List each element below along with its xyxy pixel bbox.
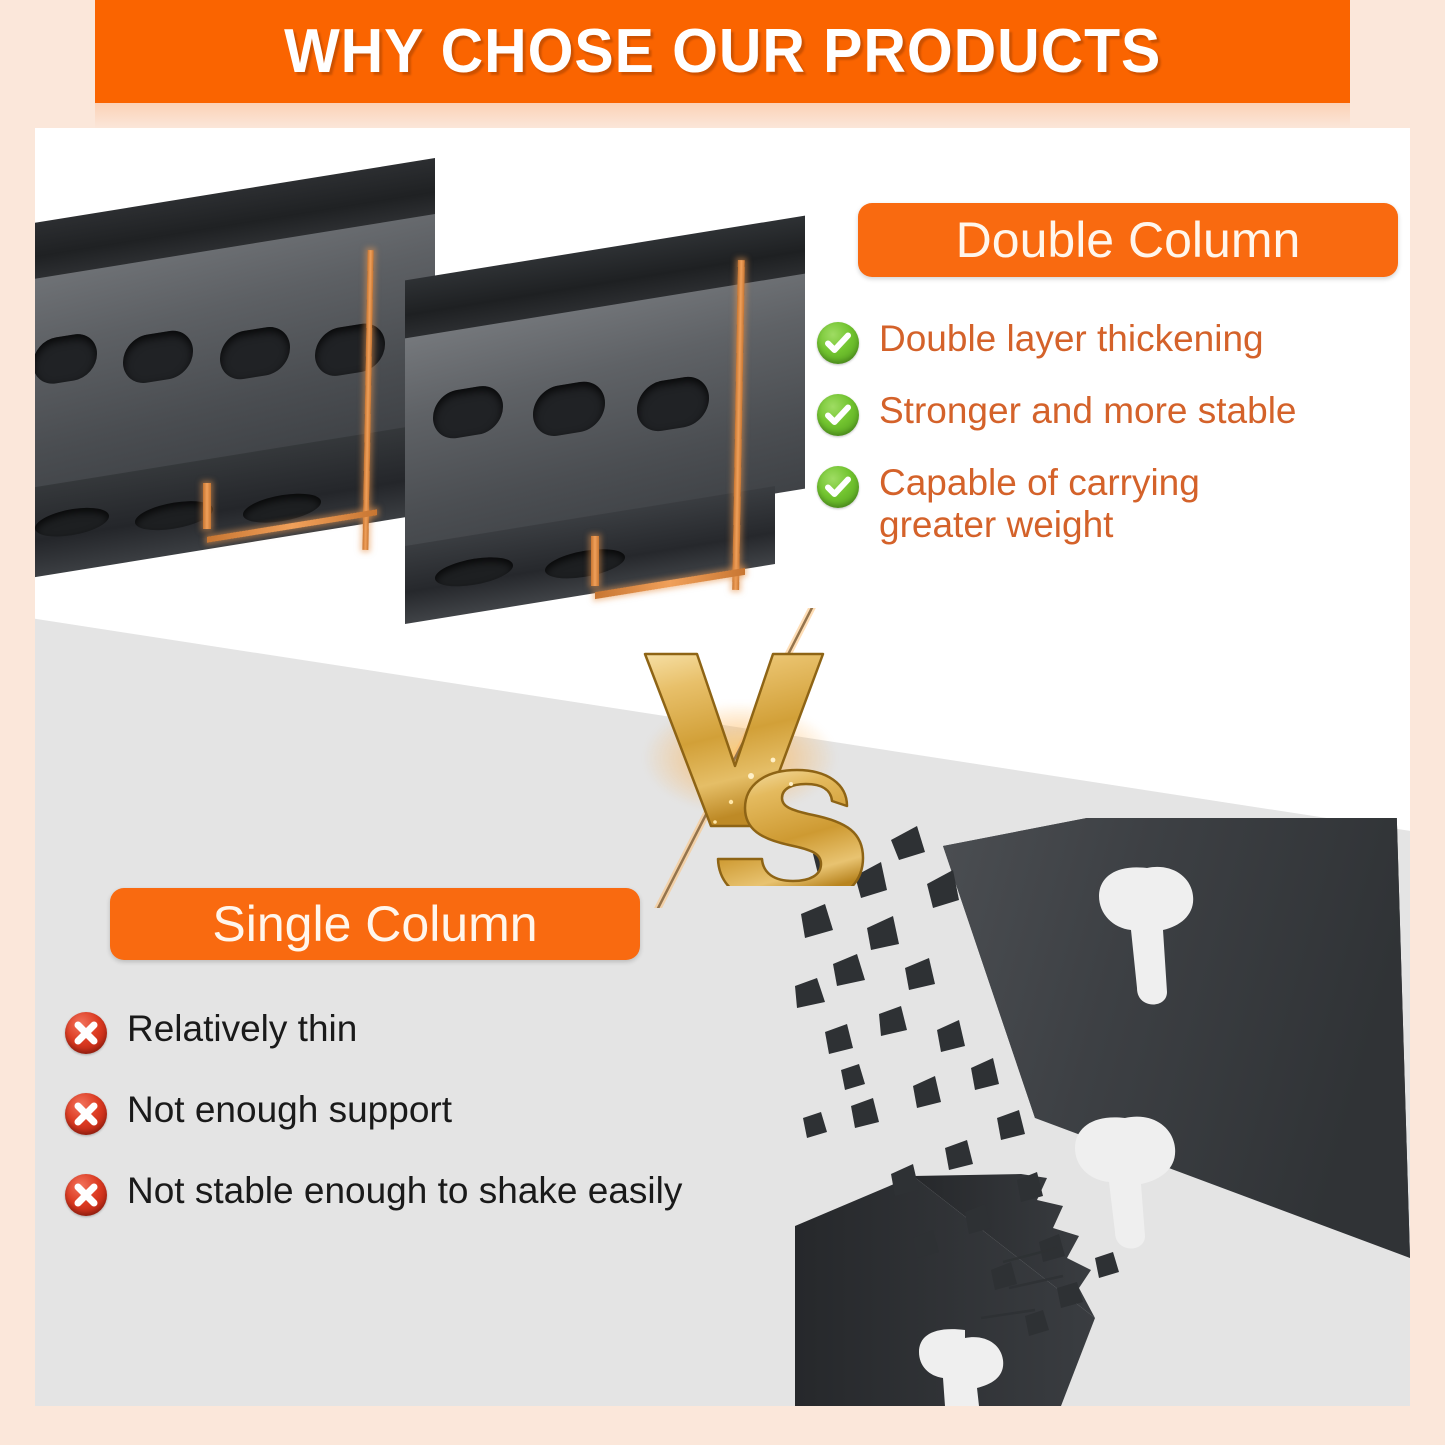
feature-label: Capable of carrying greater weight [879, 462, 1200, 546]
feature-label: Not stable enough to shake easily [127, 1170, 682, 1212]
header-banner: WHY CHOSE OUR PRODUCTS [95, 0, 1350, 103]
check-icon [817, 466, 859, 508]
feature-label: Relatively thin [127, 1008, 357, 1050]
list-item: Not stable enough to shake easily [65, 1170, 845, 1216]
list-item: Not enough support [65, 1089, 845, 1135]
badge-single-column-label: Single Column [212, 899, 537, 949]
cross-icon [65, 1093, 107, 1135]
feature-label: Double layer thickening [879, 318, 1264, 360]
list-item: Double layer thickening [817, 318, 1397, 364]
versus-emblem [595, 608, 925, 908]
page-title: WHY CHOSE OUR PRODUCTS [284, 21, 1161, 83]
feature-label: Stronger and more stable [879, 390, 1297, 432]
badge-double-column: Double Column [858, 203, 1398, 277]
badge-double-column-label: Double Column [956, 215, 1301, 265]
double-layer-edge-highlight [591, 536, 599, 586]
double-layer-edge-highlight [203, 483, 211, 529]
banner-shadow [95, 103, 1350, 129]
check-icon [817, 394, 859, 436]
cross-icon [65, 1174, 107, 1216]
infographic-root: Double Column Double layer thickening S [0, 0, 1445, 1445]
cross-icon [65, 1012, 107, 1054]
double-column-product-photo [35, 128, 825, 628]
feature-label: Not enough support [127, 1089, 452, 1131]
pros-list: Double layer thickening Stronger and mor… [817, 318, 1397, 572]
content-card: Double Column Double layer thickening S [35, 128, 1410, 1406]
cons-list: Relatively thin Not enough support Not s… [65, 1008, 845, 1251]
list-item: Relatively thin [65, 1008, 845, 1054]
versus-letters [623, 626, 903, 886]
check-icon [817, 322, 859, 364]
list-item: Capable of carrying greater weight [817, 462, 1397, 546]
list-item: Stronger and more stable [817, 390, 1397, 436]
badge-single-column: Single Column [110, 888, 640, 960]
